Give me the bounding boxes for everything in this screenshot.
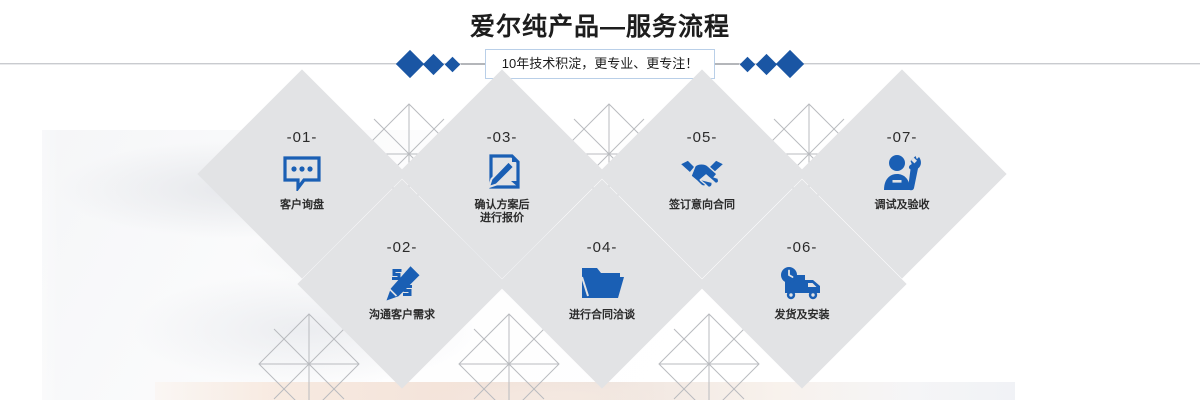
- step-label: 发货及安装: [775, 309, 830, 322]
- diamond-medium-icon: [756, 53, 777, 74]
- subtitle-text: 10年技术积淀，更专业、更专注！: [502, 50, 698, 78]
- step-number: -03-: [487, 130, 518, 146]
- pen-signature-icon: [381, 263, 423, 303]
- process-flow: -01- 客户询盘 -02-: [0, 92, 1200, 400]
- diamond-medium-icon: [423, 53, 444, 74]
- page-title: 爱尔纯产品—服务流程: [0, 11, 1200, 43]
- diamond-small-icon: [740, 56, 756, 72]
- step-label: 沟通客户需求: [369, 309, 435, 322]
- step-label: 客户询盘: [280, 199, 324, 212]
- step-number: -04-: [587, 240, 618, 256]
- diamond-large-icon: [396, 50, 424, 78]
- step-label: 确认方案后 进行报价: [475, 199, 530, 225]
- right-diamond-group: [739, 54, 803, 74]
- chat-bubble-icon: [282, 153, 322, 193]
- technician-wrench-icon: [881, 153, 923, 193]
- diamond-small-icon: [444, 56, 460, 72]
- right-connector-line: [715, 63, 739, 65]
- subtitle-row: 10年技术积淀，更专业、更专注！: [0, 48, 1200, 80]
- step-number: -06-: [787, 240, 818, 256]
- delivery-truck-icon: [779, 263, 825, 303]
- flow-step-07[interactable]: -07- 调试及验收: [828, 100, 976, 248]
- document-pencil-icon: [482, 153, 522, 193]
- banner-header: 爱尔纯产品—服务流程 10年技术积淀，更专业、更专注！: [0, 0, 1200, 92]
- handshake-icon: [678, 153, 726, 193]
- subtitle-badge: 10年技术积淀，更专业、更专注！: [485, 49, 715, 79]
- service-flow-banner: 爱尔纯产品—服务流程 10年技术积淀，更专业、更专注！: [0, 0, 1200, 400]
- left-connector-line: [461, 63, 485, 65]
- left-diamond-group: [397, 54, 461, 74]
- step-label: 调试及验收: [875, 199, 930, 212]
- folder-open-icon: [580, 263, 624, 303]
- step-number: -07-: [887, 130, 918, 146]
- diamond-large-icon: [776, 50, 804, 78]
- step-number: -02-: [387, 240, 418, 256]
- step-number: -01-: [287, 130, 318, 146]
- step-number: -05-: [687, 130, 718, 146]
- step-label: 进行合同洽谈: [569, 309, 635, 322]
- step-label: 签订意向合同: [669, 199, 735, 212]
